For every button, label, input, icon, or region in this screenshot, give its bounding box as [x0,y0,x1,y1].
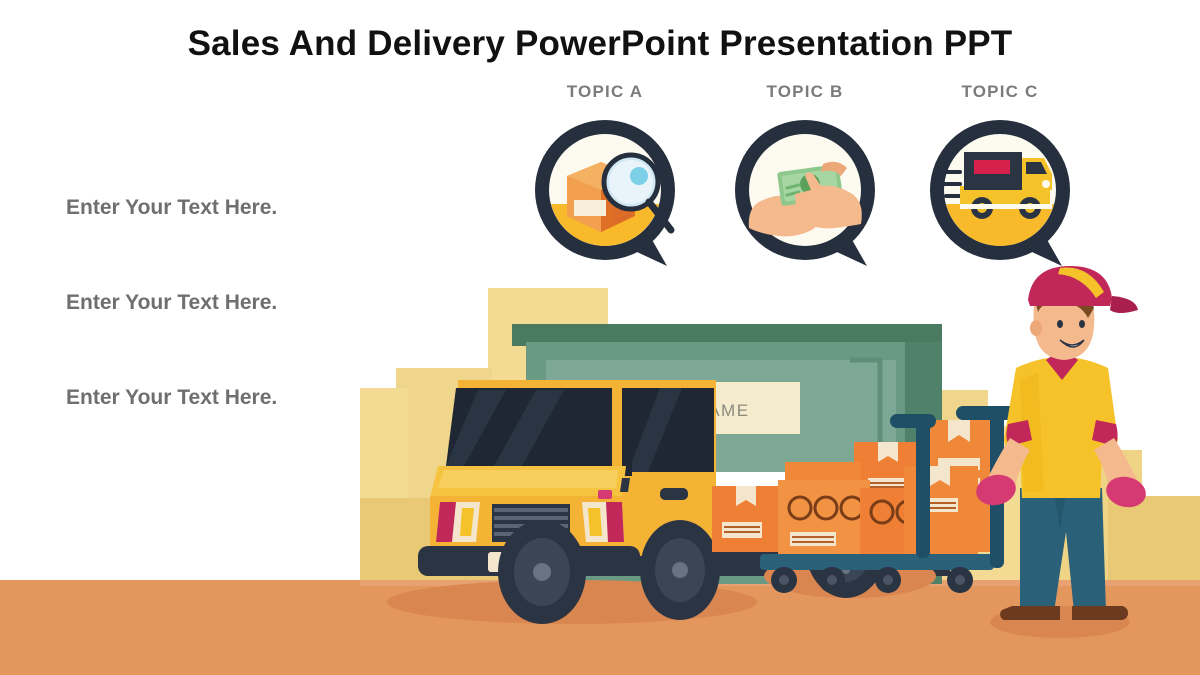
delivery-truck-icon[interactable] [922,112,1078,268]
truck-front-wheel [498,520,586,624]
page-title: Sales And Delivery PowerPoint Presentati… [0,24,1200,64]
package-magnifier-icon[interactable] [527,112,683,268]
text-placeholder-1[interactable]: Enter Your Text Here. [66,192,396,287]
truck-cab-rear-wheel [640,520,720,620]
topic-item-a[interactable]: TOPIC A [515,82,695,268]
topic-item-c[interactable]: TOPIC C [910,82,1090,268]
topic-item-b[interactable]: TOPIC B [715,82,895,268]
delivery-scene-illustration: NAME [360,240,1200,675]
topic-label-c: TOPIC C [910,82,1090,102]
topic-label-a: TOPIC A [515,82,695,102]
topic-bubbles-row: TOPIC A [505,82,1105,292]
topic-label-b: TOPIC B [715,82,895,102]
cash-exchange-hands-icon[interactable] [727,112,883,268]
text-placeholder-list: Enter Your Text Here. Enter Your Text He… [66,192,396,477]
text-placeholder-3[interactable]: Enter Your Text Here. [66,382,396,477]
slide-canvas: NAME [0,0,1200,675]
text-placeholder-2[interactable]: Enter Your Text Here. [66,287,396,382]
